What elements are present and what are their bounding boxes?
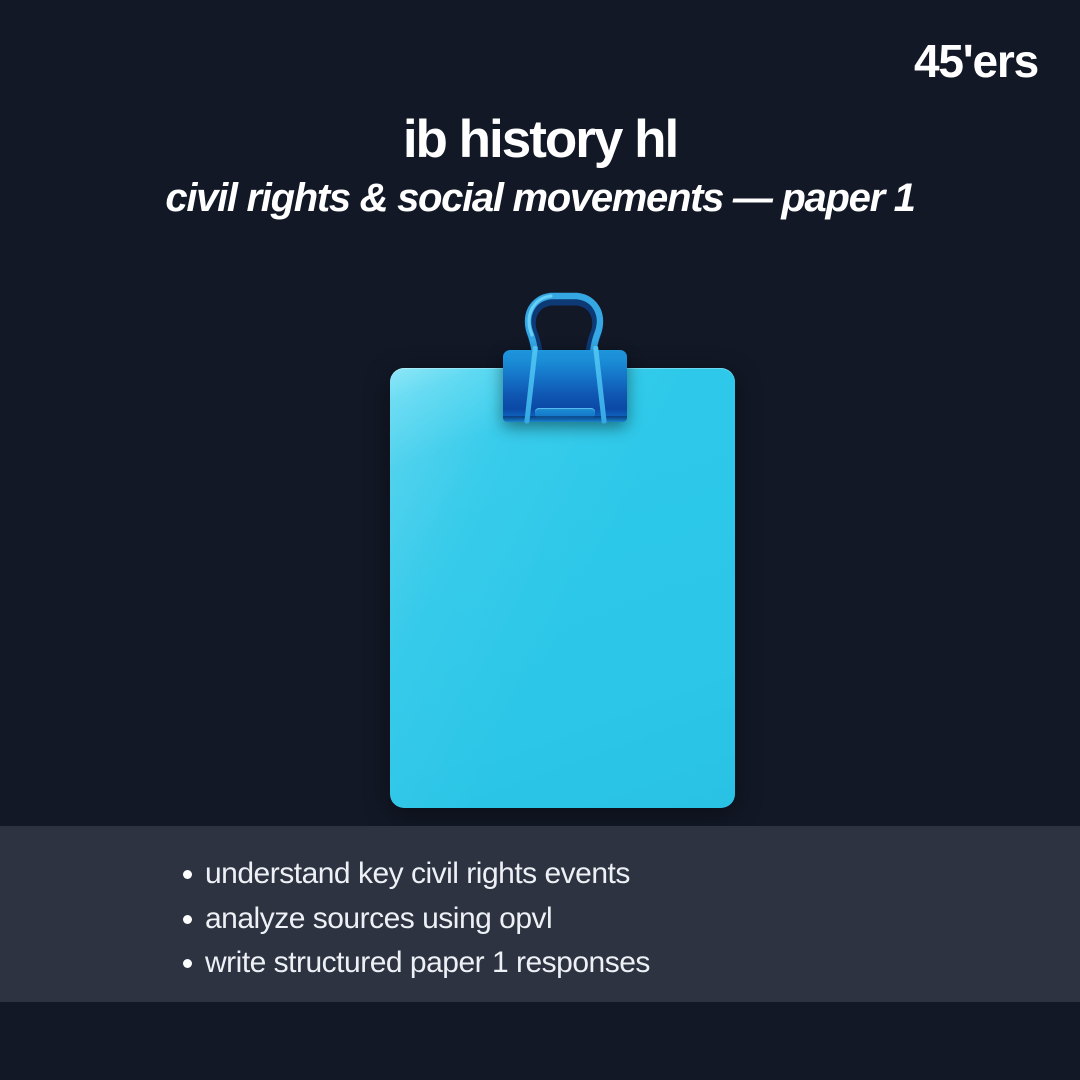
list-item: write structured paper 1 responses — [183, 943, 1080, 983]
bullet-dot-icon — [183, 870, 192, 879]
clip-body — [503, 350, 627, 422]
objective-text: analyze sources using opvl — [205, 902, 552, 935]
list-item: understand key civil rights events — [183, 854, 1080, 894]
bullet-dot-icon — [183, 959, 192, 968]
bullet-dot-icon — [183, 915, 192, 924]
page-title: ib history hl — [0, 112, 1080, 168]
paper-card-icon — [390, 368, 735, 808]
paper-card-sheen — [390, 368, 735, 808]
objectives-band: understand key civil rights events analy… — [0, 826, 1080, 1002]
page-subtitle: civil rights & social movements — paper … — [0, 174, 1080, 223]
objective-text: write structured paper 1 responses — [205, 946, 650, 979]
clip-body-shadow-band — [503, 416, 627, 422]
clipboard-illustration — [390, 288, 738, 812]
list-item: analyze sources using opvl — [183, 899, 1080, 939]
objectives-list: understand key civil rights events analy… — [0, 826, 1080, 983]
heading-block: ib history hl civil rights & social move… — [0, 112, 1080, 223]
brand-logo: 45'ers — [914, 38, 1038, 84]
poster-canvas: 45'ers ib history hl civil rights & soci… — [0, 0, 1080, 1080]
binder-clip-icon — [493, 288, 635, 423]
objective-text: understand key civil rights events — [205, 857, 630, 890]
